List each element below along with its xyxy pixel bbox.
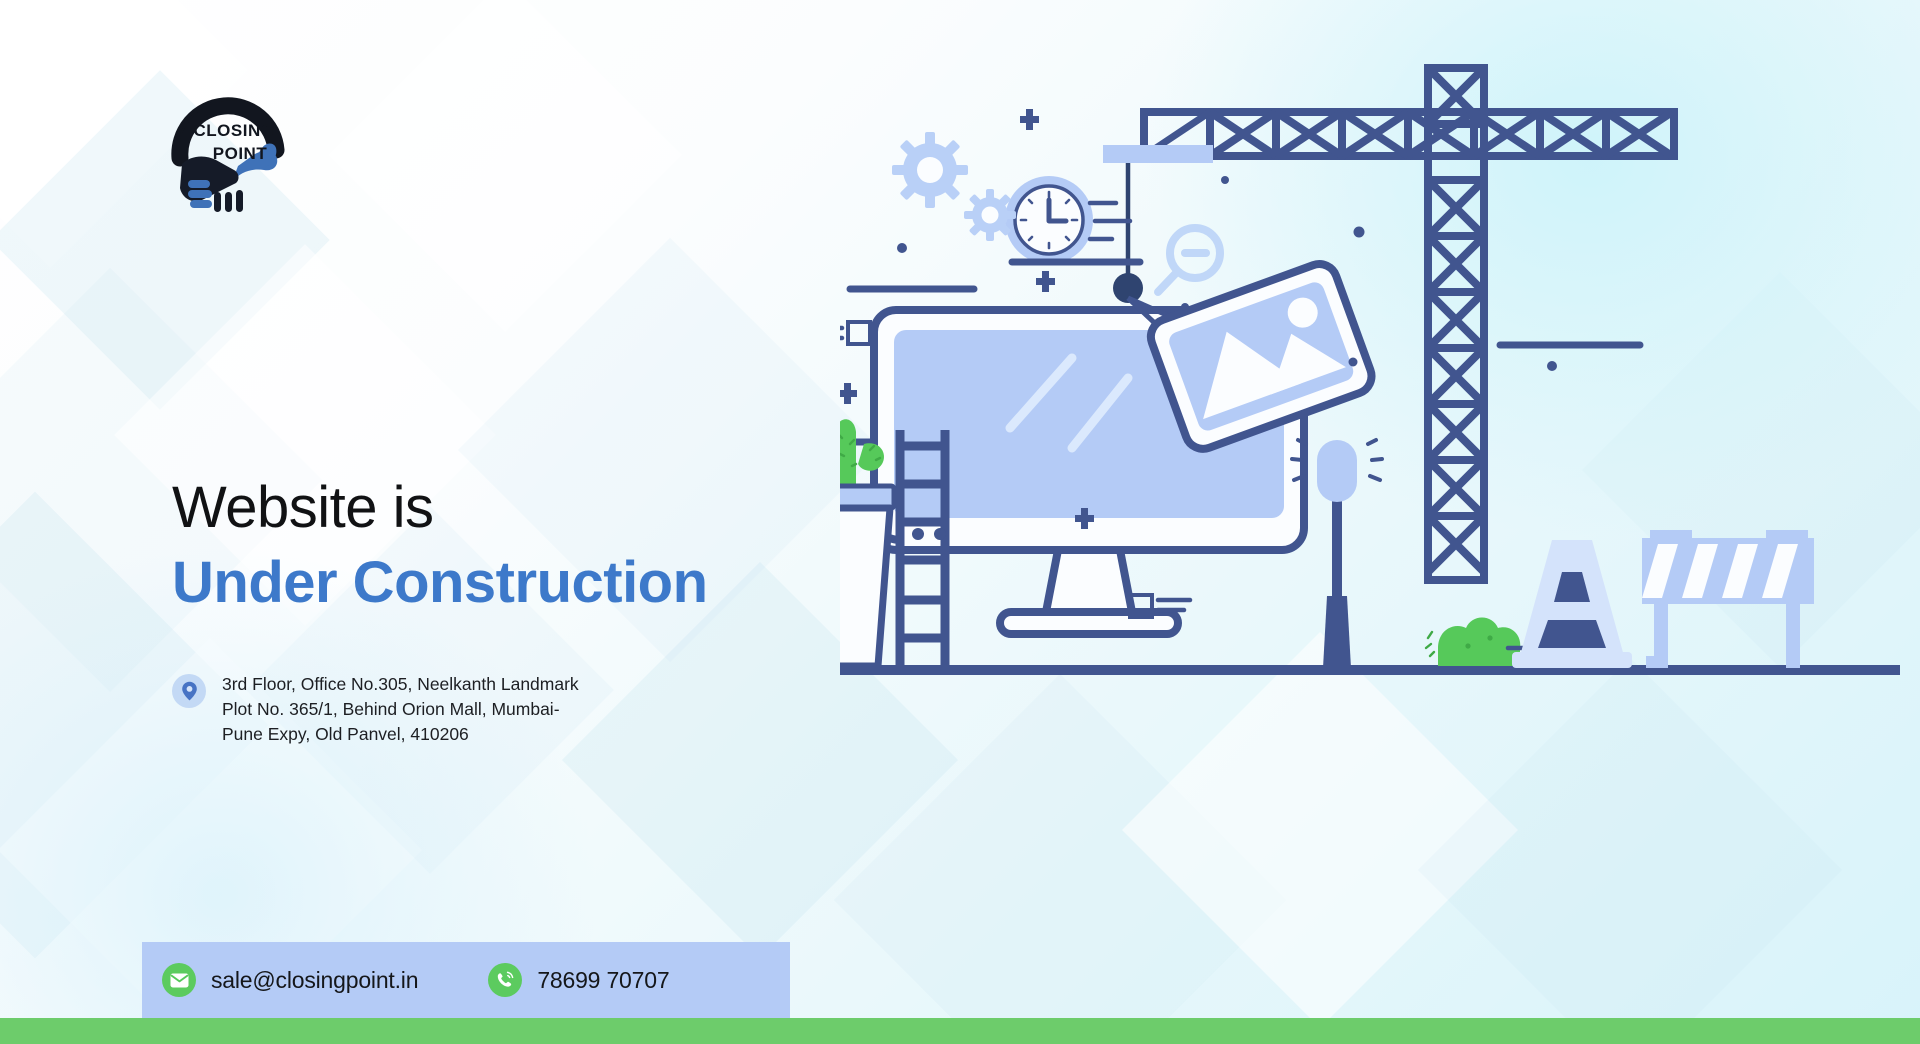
phone-text: 78699 70707 (537, 967, 669, 994)
logo-text-line2: POINT (213, 144, 268, 163)
company-logo[interactable]: CLOSING POINT (168, 72, 286, 212)
footer-green-strip (0, 1018, 1920, 1044)
email-contact-item[interactable]: sale@closingpoint.in (162, 963, 418, 997)
crane-trolley (1103, 145, 1213, 163)
headline-line-2: Under Construction (172, 549, 708, 616)
logo-text-line1: CLOSING (194, 121, 275, 140)
location-pin-icon (172, 674, 206, 708)
handshake-circle-logo-icon: CLOSING POINT (168, 72, 286, 212)
address-block: 3rd Floor, Office No.305, Neelkanth Land… (172, 672, 582, 747)
monitor-stand (1046, 550, 1132, 612)
road-barrier-icon (1642, 530, 1814, 668)
clock-icon (1005, 176, 1130, 264)
clock-motion-lines (1090, 203, 1130, 239)
email-text: sale@closingpoint.in (211, 967, 418, 994)
contact-bar: sale@closingpoint.in 78699 70707 (142, 942, 790, 1018)
page-title: Website is Under Construction (172, 474, 708, 617)
list-glyph-left (840, 322, 870, 344)
ground-line (840, 665, 1900, 675)
under-construction-page: CLOSING POINT Website is Under Construct… (0, 0, 1920, 1044)
bush-icon (1426, 618, 1520, 667)
magnifier-icon (1158, 228, 1220, 292)
under-construction-illustration: .dk { fill: #41558f; } .dks { fill: none… (840, 40, 1900, 700)
phone-icon (488, 963, 522, 997)
envelope-icon (162, 963, 196, 997)
address-text: 3rd Floor, Office No.305, Neelkanth Land… (222, 672, 582, 747)
gears-icon (892, 132, 1016, 241)
phone-contact-item[interactable]: 78699 70707 (488, 963, 669, 997)
headline-line-1: Website is (172, 474, 708, 541)
traffic-cone-icon (1512, 540, 1632, 668)
